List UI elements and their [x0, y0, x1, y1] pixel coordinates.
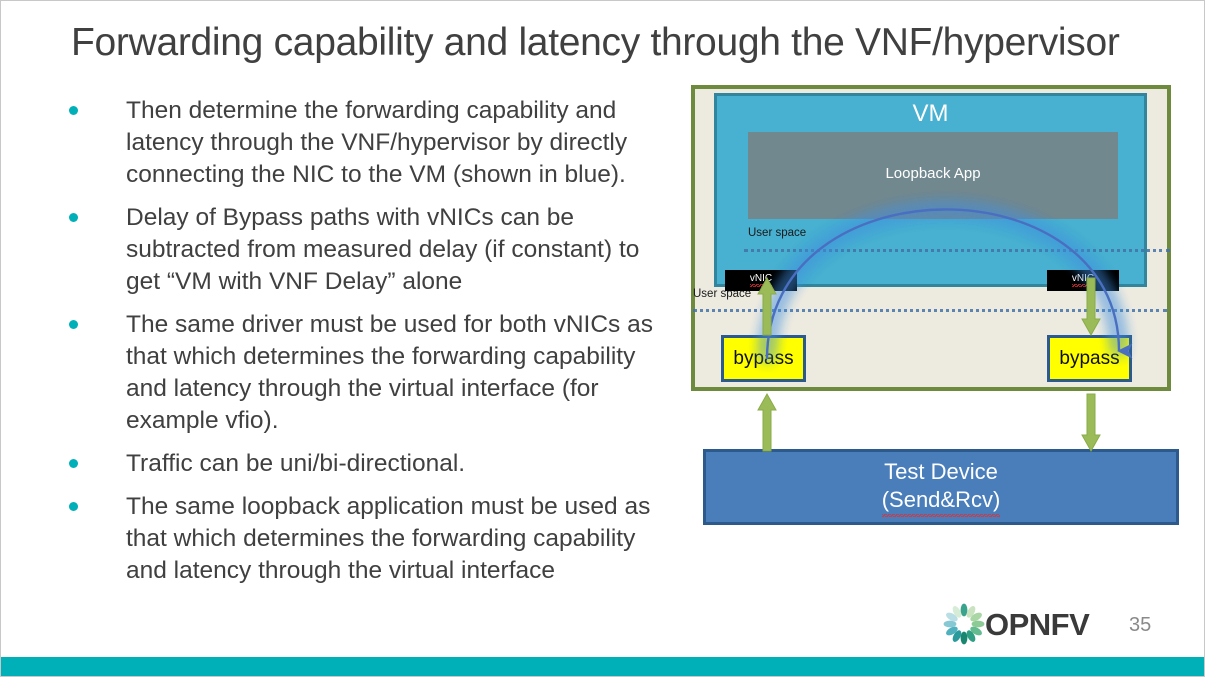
- bypass-left-box: bypass: [721, 335, 806, 382]
- list-item: Traffic can be uni/bi-directional.: [65, 448, 675, 480]
- vnic-left-label: vNIC: [750, 274, 772, 287]
- host-kernel-boundary-divider: [693, 309, 1167, 312]
- bullet-dot-icon: [69, 320, 78, 329]
- vnic-right-label: vNIC: [1072, 274, 1094, 287]
- bullet-text: Delay of Bypass paths with vNICs can be …: [126, 202, 675, 298]
- test-device-subtitle: (Send&Rcv): [882, 486, 1001, 517]
- vm-kernel-boundary-divider: [744, 249, 1170, 252]
- loopback-app-box: Loopback App: [748, 132, 1118, 219]
- vm-box: VM Loopback App User space: [714, 93, 1147, 287]
- test-device-title: Test Device: [884, 458, 998, 486]
- traffic-arrow-down-outer: [1082, 394, 1100, 451]
- list-item: The same loopback application must be us…: [65, 491, 675, 587]
- bullet-dot-icon: [69, 106, 78, 115]
- slide-canvas: Forwarding capability and latency throug…: [0, 0, 1205, 677]
- vnic-right-box: vNIC: [1047, 270, 1119, 291]
- test-device-box: Test Device (Send&Rcv): [703, 449, 1179, 525]
- loopback-app-label: Loopback App: [748, 165, 1118, 182]
- vm-user-space-label: User space: [748, 227, 806, 239]
- list-item: The same driver must be used for both vN…: [65, 309, 675, 437]
- vnic-left-box: vNIC: [725, 270, 797, 291]
- opnfv-wordmark: OPNFV: [985, 607, 1090, 642]
- bullet-text: Then determine the forwarding capability…: [126, 95, 675, 191]
- bullet-dot-icon: [69, 213, 78, 222]
- page-title: Forwarding capability and latency throug…: [71, 15, 1181, 71]
- bullet-list: Then determine the forwarding capability…: [65, 95, 675, 598]
- bypass-right-label: bypass: [1059, 348, 1119, 370]
- bottom-accent-bar: [1, 657, 1205, 677]
- bullet-dot-icon: [69, 502, 78, 511]
- bullet-dot-icon: [69, 459, 78, 468]
- bypass-right-box: bypass: [1047, 335, 1132, 382]
- list-item: Delay of Bypass paths with vNICs can be …: [65, 202, 675, 298]
- bullet-text: The same driver must be used for both vN…: [126, 309, 675, 437]
- opnfv-petal-mark: [944, 604, 985, 645]
- architecture-diagram: VM Loopback App User space User space vN…: [691, 85, 1171, 391]
- bypass-left-label: bypass: [733, 348, 793, 370]
- page-number: 35: [1129, 614, 1151, 637]
- vm-label: VM: [717, 100, 1144, 128]
- bullet-text: Traffic can be uni/bi-directional.: [126, 448, 675, 480]
- opnfv-logo: OPNFV: [943, 602, 1103, 646]
- traffic-arrow-up-outer: [758, 394, 776, 451]
- list-item: Then determine the forwarding capability…: [65, 95, 675, 191]
- bullet-text: The same loopback application must be us…: [126, 491, 675, 587]
